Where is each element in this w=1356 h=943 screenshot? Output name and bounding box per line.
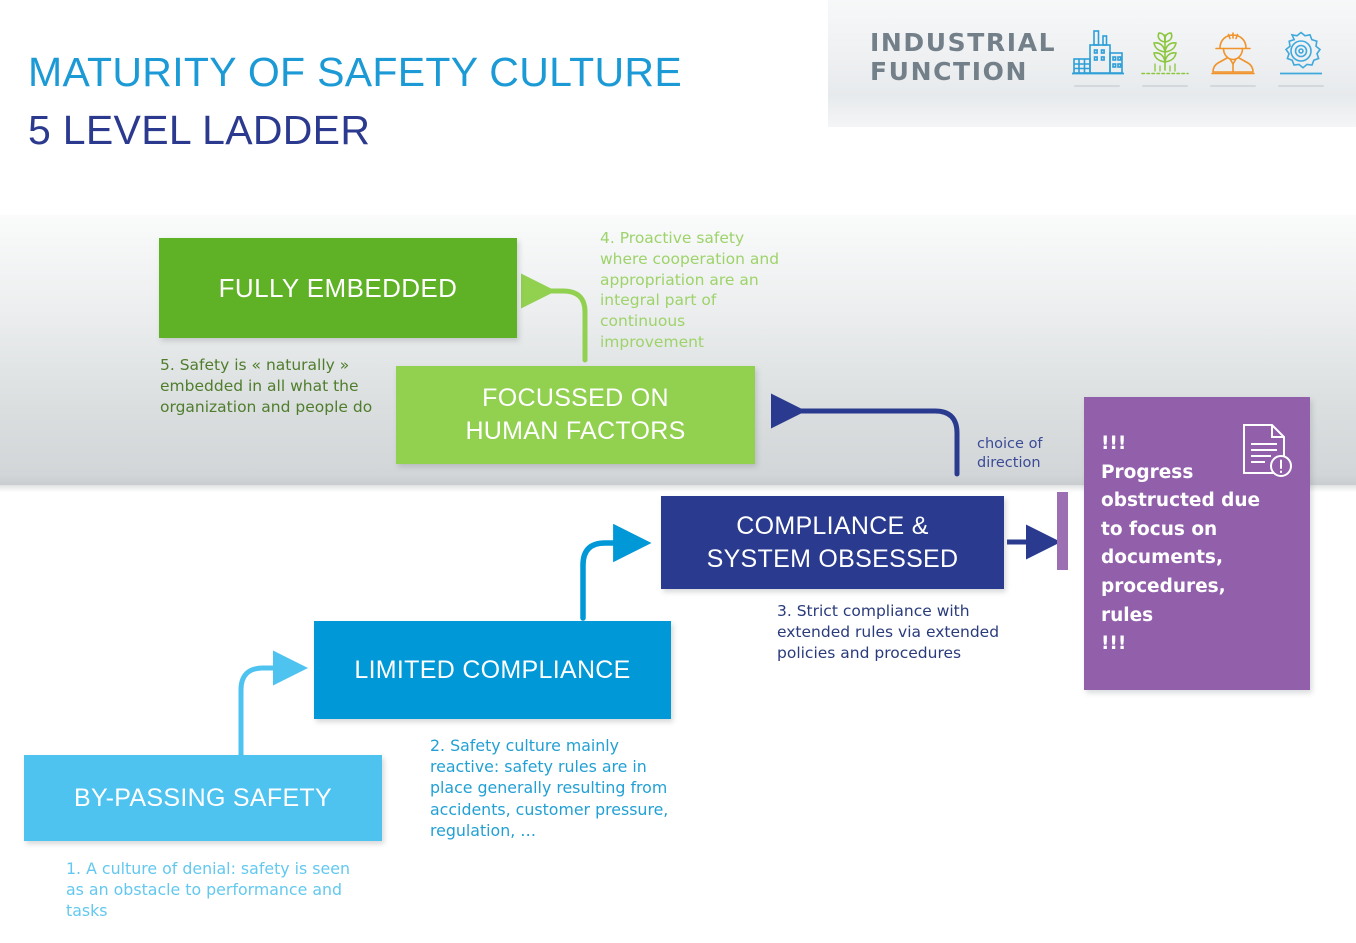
arrow-bypassing-to-limited xyxy=(241,668,292,757)
note-level-1: 1. A culture of denial: safety is seen a… xyxy=(66,858,366,922)
level-label-focussed-on-human-factors: FOCUSSED ON HUMAN FACTORS xyxy=(465,382,685,448)
worker-helmet-icon xyxy=(1206,26,1260,88)
note-level-3: 3. Strict compliance with extended rules… xyxy=(777,601,1005,664)
logo-word-line2: FUNCTION xyxy=(870,57,1056,86)
logo-icon-row xyxy=(1070,26,1328,88)
note-level-2: 2. Safety culture mainly reactive: safet… xyxy=(430,735,670,841)
arrow-limited-to-compliance xyxy=(583,543,634,618)
logo-word-line1: INDUSTRIAL xyxy=(870,28,1056,57)
worker-helmet-icon-underline xyxy=(1210,85,1256,87)
note-level-4: 4. Proactive safety where cooperation an… xyxy=(600,228,780,353)
level-label-fully-embedded: FULLY EMBEDDED xyxy=(219,273,458,304)
logo-wordmark: INDUSTRIAL FUNCTION xyxy=(870,28,1056,86)
plant-icon xyxy=(1138,26,1192,88)
level-box-compliance-system-obsessed[interactable]: COMPLIANCE & SYSTEM OBSESSED xyxy=(661,496,1004,589)
note-level-5: 5. Safety is « naturally » embedded in a… xyxy=(160,355,378,417)
level-box-focussed-on-human-factors[interactable]: FOCUSSED ON HUMAN FACTORS xyxy=(396,366,755,464)
callout-connector-bar xyxy=(1057,492,1068,570)
level-label-limited-compliance: LIMITED COMPLIANCE xyxy=(354,656,630,685)
factory-icon xyxy=(1070,26,1124,88)
level-label-by-passing-safety: BY-PASSING SAFETY xyxy=(74,784,332,813)
page-title-line2: 5 LEVEL LADDER xyxy=(28,104,370,156)
note-choice-of-direction: choice of direction xyxy=(977,435,1067,473)
slide-canvas: MATURITY OF SAFETY CULTURE 5 LEVEL LADDE… xyxy=(0,0,1356,943)
logo-band: INDUSTRIAL FUNCTION xyxy=(828,0,1356,127)
callout-progress-obstructed[interactable]: !!! Progress obstructed due to focus on … xyxy=(1084,397,1310,690)
plant-icon-underline xyxy=(1142,85,1188,87)
page-title-line1: MATURITY OF SAFETY CULTURE xyxy=(28,46,682,98)
level-box-fully-embedded[interactable]: FULLY EMBEDDED xyxy=(159,238,517,338)
level-label-compliance-system-obsessed: COMPLIANCE & SYSTEM OBSESSED xyxy=(707,510,959,576)
level-box-by-passing-safety[interactable]: BY-PASSING SAFETY xyxy=(24,755,382,841)
factory-icon-underline xyxy=(1074,85,1120,87)
gear-icon-underline xyxy=(1278,85,1324,87)
level-box-limited-compliance[interactable]: LIMITED COMPLIANCE xyxy=(314,621,671,719)
logo: INDUSTRIAL FUNCTION xyxy=(870,26,1328,88)
gear-icon xyxy=(1274,26,1328,88)
document-alert-icon xyxy=(1238,421,1294,481)
